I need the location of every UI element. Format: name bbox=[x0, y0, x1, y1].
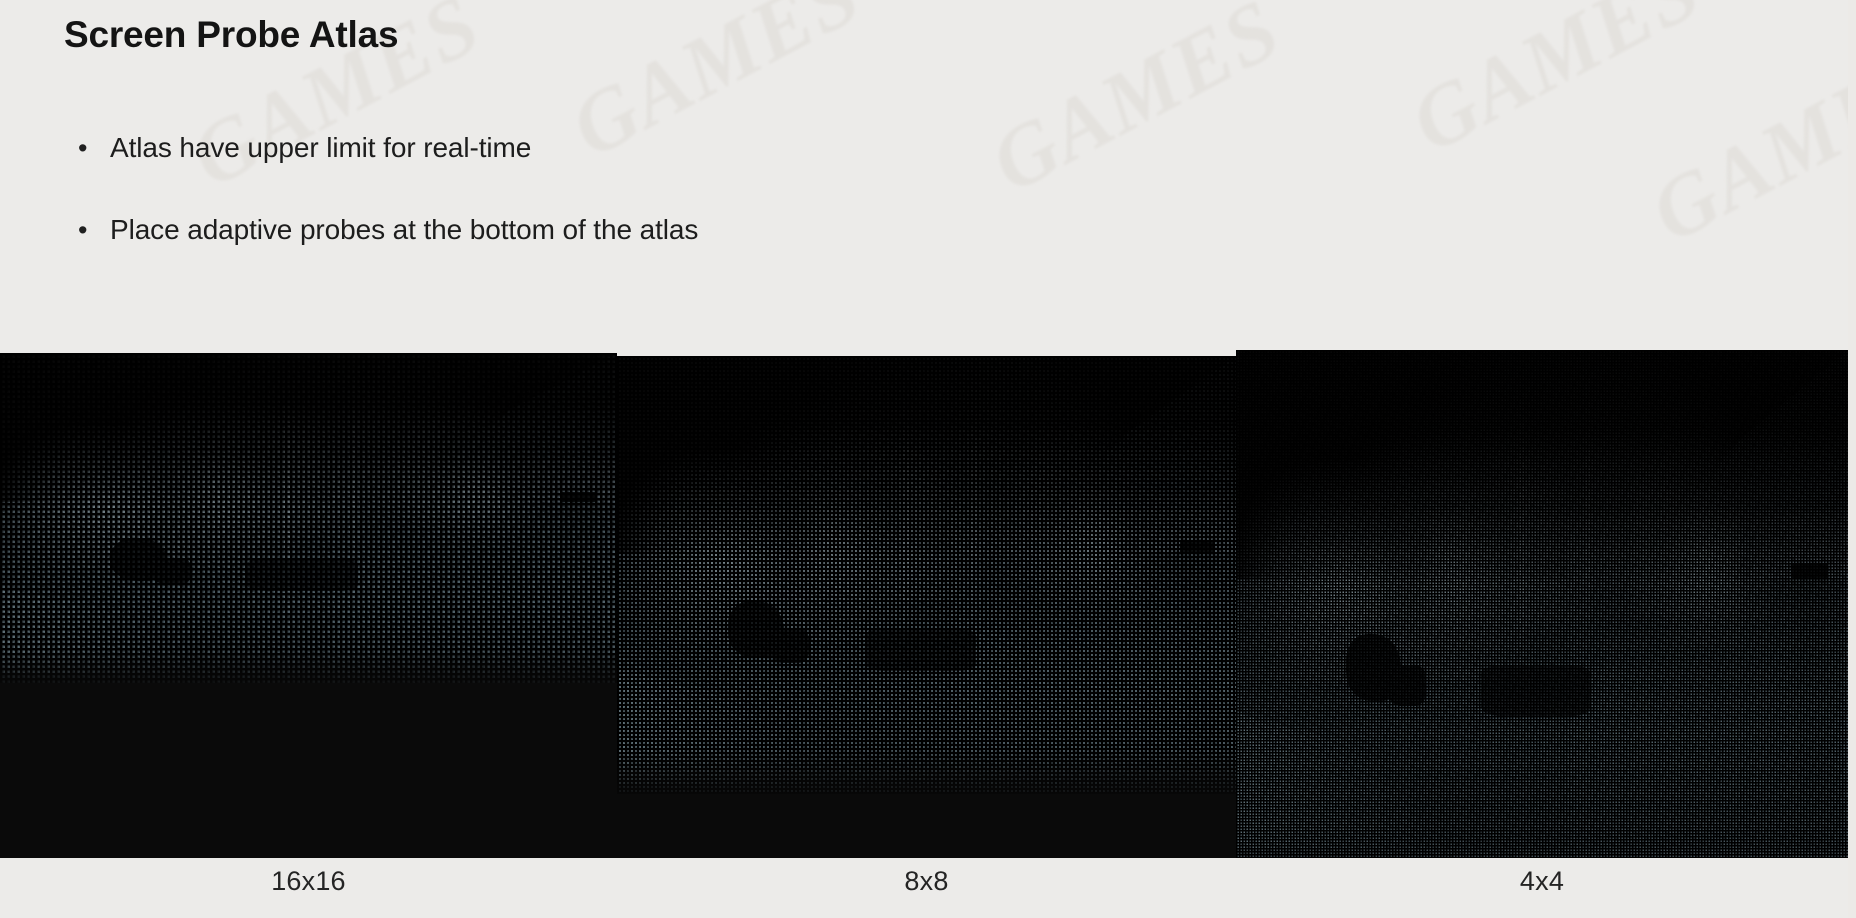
scene-foliage bbox=[617, 452, 827, 645]
atlas-scene-8x8 bbox=[617, 356, 1236, 794]
watermark-text: GAMES bbox=[1395, 0, 1717, 172]
atlas-panel-8x8 bbox=[617, 356, 1236, 858]
bullet-marker-icon: • bbox=[74, 127, 110, 169]
watermark-text: GAMES bbox=[555, 0, 877, 177]
scene-foreground-mass bbox=[865, 628, 976, 672]
atlas-caption-8x8: 8x8 bbox=[617, 866, 1236, 897]
atlas-panel-4x4 bbox=[1236, 350, 1848, 858]
atlas-scene-4x4 bbox=[1236, 350, 1848, 858]
scene-trunk bbox=[284, 406, 291, 650]
scene-foliage bbox=[0, 426, 210, 571]
bullet-item-0: • Atlas have upper limit for real-time bbox=[74, 127, 531, 169]
bullet-item-1: • Place adaptive probes at the bottom of… bbox=[74, 209, 698, 251]
bullet-text: Atlas have upper limit for real-time bbox=[110, 127, 531, 169]
atlas-panel-16x16 bbox=[0, 353, 617, 858]
atlas-caption-16x16: 16x16 bbox=[0, 866, 617, 897]
scene-foreground-mass bbox=[154, 558, 191, 584]
watermark-text: GAMES bbox=[1635, 28, 1856, 262]
watermark-text: GAMES bbox=[975, 0, 1297, 212]
slide-canvas: GAMES GAMES GAMES GAMES GAMES Screen Pro… bbox=[0, 0, 1856, 918]
bullet-marker-icon: • bbox=[74, 209, 110, 251]
scene-trunk bbox=[1518, 401, 1525, 680]
scene-foreground-mass bbox=[772, 628, 809, 663]
scene-foliage bbox=[407, 412, 543, 544]
scene-trunk bbox=[970, 382, 977, 636]
scene-foreground-mass bbox=[247, 558, 358, 591]
atlas-caption-row: 16x16 8x8 4x4 bbox=[0, 858, 1856, 918]
atlas-caption-4x4: 4x4 bbox=[1236, 866, 1848, 897]
scene-foreground-mass bbox=[1389, 665, 1426, 706]
bullet-text: Place adaptive probes at the bottom of t… bbox=[110, 209, 698, 251]
scene-foliage bbox=[1236, 462, 1444, 686]
scene-foliage bbox=[1026, 435, 1162, 610]
scene-trunk bbox=[1585, 375, 1592, 639]
atlas-comparison-figure bbox=[0, 348, 1856, 858]
scene-foliage bbox=[1640, 441, 1775, 644]
page-title: Screen Probe Atlas bbox=[64, 14, 398, 56]
frame-right-edge bbox=[1848, 0, 1856, 918]
atlas-scene-16x16 bbox=[0, 353, 617, 683]
scene-foreground-mass bbox=[1481, 665, 1591, 716]
